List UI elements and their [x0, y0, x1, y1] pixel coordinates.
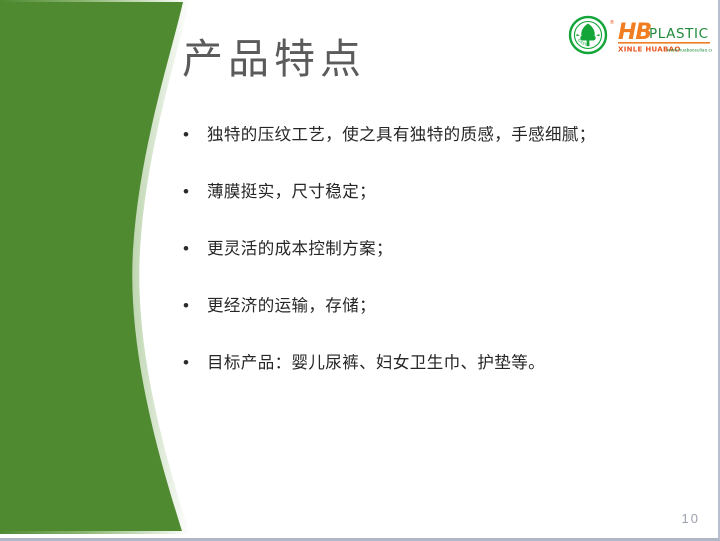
- list-item: • 目标产品：婴儿尿裤、妇女卫生巾、护垫等。: [181, 350, 701, 407]
- list-item: • 更灵活的成本控制方案；: [181, 236, 701, 293]
- logo-divider: [618, 42, 710, 44]
- list-item: • 薄膜挺实，尺寸稳定；: [181, 179, 701, 236]
- logo-website: www.huabaosuliao.com: [667, 48, 712, 54]
- company-logo: GREEN ® HB PLASTIC XINLE HUABAO www.huab…: [566, 12, 712, 62]
- page-number: 10: [682, 511, 700, 526]
- page-title: 产品特点: [182, 36, 366, 83]
- bullet-marker-icon: •: [181, 122, 207, 148]
- list-item-label: 独特的压纹工艺，使之具有独特的质感，手感细腻；: [207, 122, 701, 148]
- bullet-marker-icon: •: [181, 350, 207, 376]
- logo-brand-mark: HB: [618, 20, 651, 45]
- logo-brand-word: PLASTIC: [649, 26, 709, 42]
- green-tree-emblem-icon: GREEN: [570, 17, 606, 53]
- list-item-label: 薄膜挺实，尺寸稳定；: [207, 179, 701, 205]
- list-item-label: 目标产品：婴儿尿裤、妇女卫生巾、护垫等。: [207, 350, 701, 376]
- slide-canvas: 产品特点 • 独特的压纹工艺，使之具有独特的质感，手感细腻； • 薄膜挺实，尺寸…: [0, 0, 720, 541]
- list-item-label: 更经济的运输，存储；: [207, 293, 701, 319]
- bullet-marker-icon: •: [181, 179, 207, 205]
- registered-mark: ®: [610, 19, 615, 26]
- list-item: • 独特的压纹工艺，使之具有独特的质感，手感细腻；: [181, 122, 701, 179]
- bullet-marker-icon: •: [181, 236, 207, 262]
- feature-bullet-list: • 独特的压纹工艺，使之具有独特的质感，手感细腻； • 薄膜挺实，尺寸稳定； •…: [181, 122, 701, 407]
- bullet-marker-icon: •: [181, 293, 207, 319]
- list-item-label: 更灵活的成本控制方案；: [207, 236, 701, 262]
- list-item: • 更经济的运输，存储；: [181, 293, 701, 350]
